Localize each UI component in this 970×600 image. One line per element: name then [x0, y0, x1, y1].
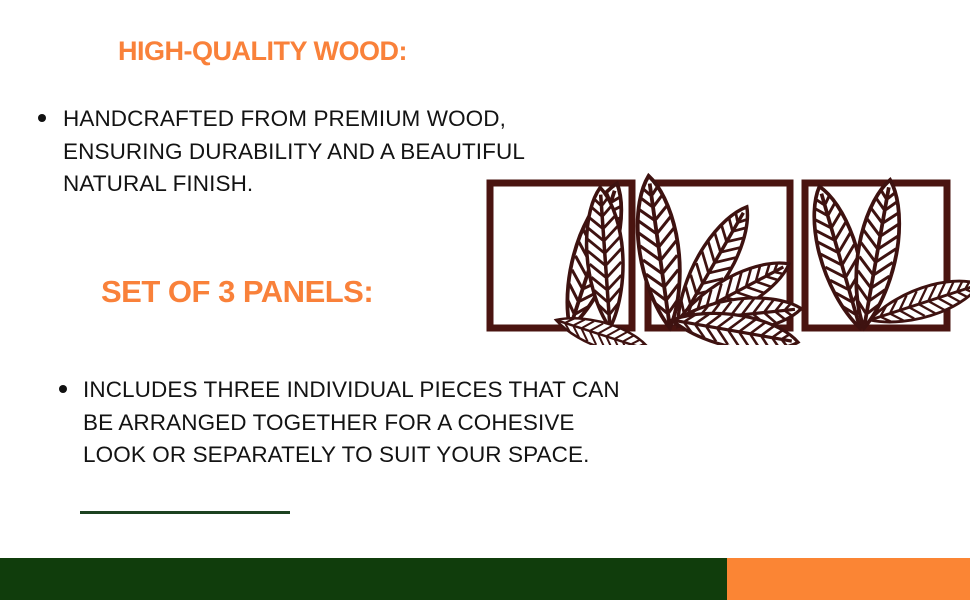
- bullet-dot-icon: [59, 385, 67, 393]
- bullet-dot-icon: [38, 114, 46, 122]
- bullet-text-includes-three: INCLUDES THREE INDIVIDUAL PIECES THAT CA…: [83, 374, 620, 472]
- footer-bar-orange: [727, 558, 970, 600]
- footer-bar-green: [0, 558, 727, 600]
- wall-art-svg: [460, 160, 970, 345]
- heading-high-quality-wood: HIGH-QUALITY WOOD:: [118, 36, 407, 67]
- wood-leaf-wall-art: [460, 160, 970, 345]
- wall-art-panel-1: [490, 177, 654, 345]
- heading-set-of-3-panels: SET OF 3 PANELS:: [101, 274, 373, 310]
- footer-bars: [0, 558, 970, 600]
- wall-art-panel-3: [801, 177, 970, 334]
- bullet-item-handcrafted: HANDCRAFTED FROM PREMIUM WOOD, ENSURING …: [38, 103, 525, 201]
- green-accent-rule: [80, 511, 290, 514]
- wall-art-panel-2: [629, 173, 803, 345]
- slide-canvas: HIGH-QUALITY WOOD: HANDCRAFTED FROM PREM…: [0, 0, 970, 600]
- bullet-text-handcrafted: HANDCRAFTED FROM PREMIUM WOOD, ENSURING …: [63, 103, 525, 201]
- bullet-item-includes-three: INCLUDES THREE INDIVIDUAL PIECES THAT CA…: [59, 374, 620, 472]
